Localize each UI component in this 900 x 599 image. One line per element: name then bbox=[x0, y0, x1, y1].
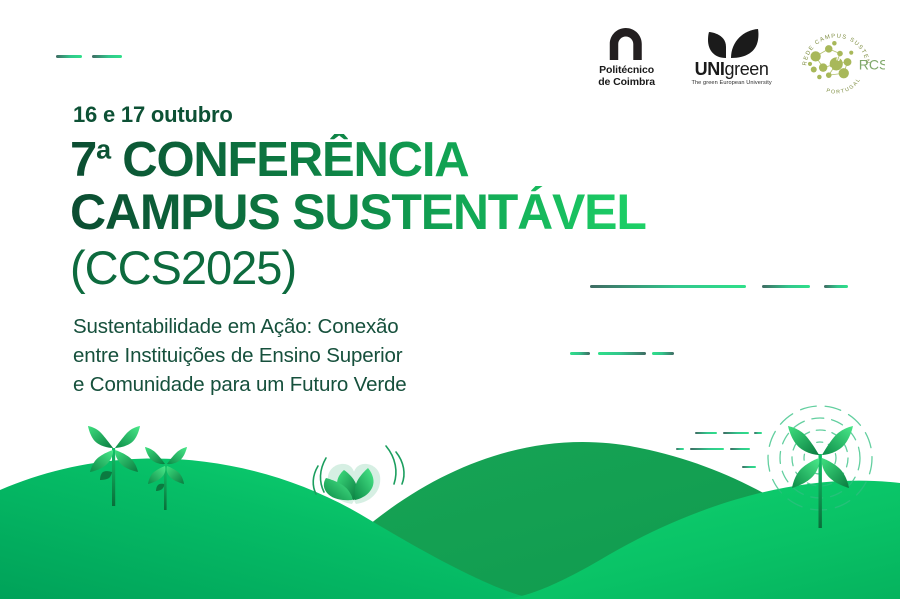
logo-politecnico-de-coimbra: Politécnico de Coimbra bbox=[585, 28, 668, 89]
sprout-icon-left-large bbox=[82, 414, 146, 506]
conference-poster: Politécnico de Coimbra UNIgreen The gree… bbox=[0, 0, 900, 599]
subtitle-line-2: entre Instituições de Ensino Superior bbox=[73, 344, 402, 367]
logo-politecnico-line1: Politécnico bbox=[599, 64, 654, 76]
decor-dash-mid-right-3 bbox=[824, 285, 848, 288]
decor-dash-lower-right-2 bbox=[598, 352, 646, 355]
arch-mark-icon bbox=[606, 28, 647, 60]
logo-rcs-arc-bottom: PORTUGAL bbox=[826, 77, 863, 96]
sapling-icon-right bbox=[758, 398, 888, 528]
decor-dash-lower-right-3 bbox=[652, 352, 674, 355]
title-line-1: 7a CONFERÊNCIA bbox=[70, 134, 710, 186]
logo-unigreen-light: green bbox=[724, 59, 768, 79]
title-ordinal-number: 7 bbox=[70, 133, 96, 187]
molecule-dots-icon: REDE CAMPUS SUSTENTÁVEL PORTUGAL RCS bbox=[795, 28, 885, 96]
page-title: 7a CONFERÊNCIA CAMPUS SUSTENTÁVEL (CCS20… bbox=[70, 134, 710, 295]
decor-dash-top-left-1 bbox=[56, 55, 82, 58]
two-leaves-icon bbox=[704, 28, 760, 58]
logo-rcs: REDE CAMPUS SUSTENTÁVEL PORTUGAL RCS bbox=[795, 28, 885, 96]
subtitle-line-3: e Comunidade para um Futuro Verde bbox=[73, 373, 407, 396]
logo-rcs-abbreviation: RCS bbox=[859, 57, 885, 73]
decor-dash-mid-right-2 bbox=[762, 285, 810, 288]
title-line-2: CAMPUS SUSTENTÁVEL bbox=[70, 186, 710, 240]
logo-unigreen-bold: UNI bbox=[695, 59, 725, 79]
logo-politecnico-line2: de Coimbra bbox=[598, 76, 655, 88]
event-subtitle: Sustentabilidade em Ação: Conexão entre … bbox=[73, 312, 543, 399]
sprout-icon-left-small bbox=[142, 438, 190, 510]
title-ordinal-suffix: a bbox=[96, 135, 110, 165]
logo-unigreen-label: UNIgreen bbox=[695, 60, 769, 78]
logo-unigreen-tagline: The green European University bbox=[691, 80, 771, 86]
logo-politecnico-label: Politécnico de Coimbra bbox=[598, 64, 655, 89]
decor-dash-top-left-2 bbox=[92, 55, 122, 58]
logo-unigreen: UNIgreen The green European University bbox=[686, 28, 777, 86]
decor-dash-lower-right-1 bbox=[570, 352, 590, 355]
event-date: 16 e 17 outubro bbox=[73, 102, 233, 128]
title-acronym: (CCS2025) bbox=[70, 242, 710, 295]
title-line-1-rest: CONFERÊNCIA bbox=[110, 133, 469, 187]
logo-bar: Politécnico de Coimbra UNIgreen The gree… bbox=[585, 28, 885, 98]
leaf-cluster-icon-center bbox=[300, 428, 410, 510]
subtitle-line-1: Sustentabilidade em Ação: Conexão bbox=[73, 315, 399, 338]
